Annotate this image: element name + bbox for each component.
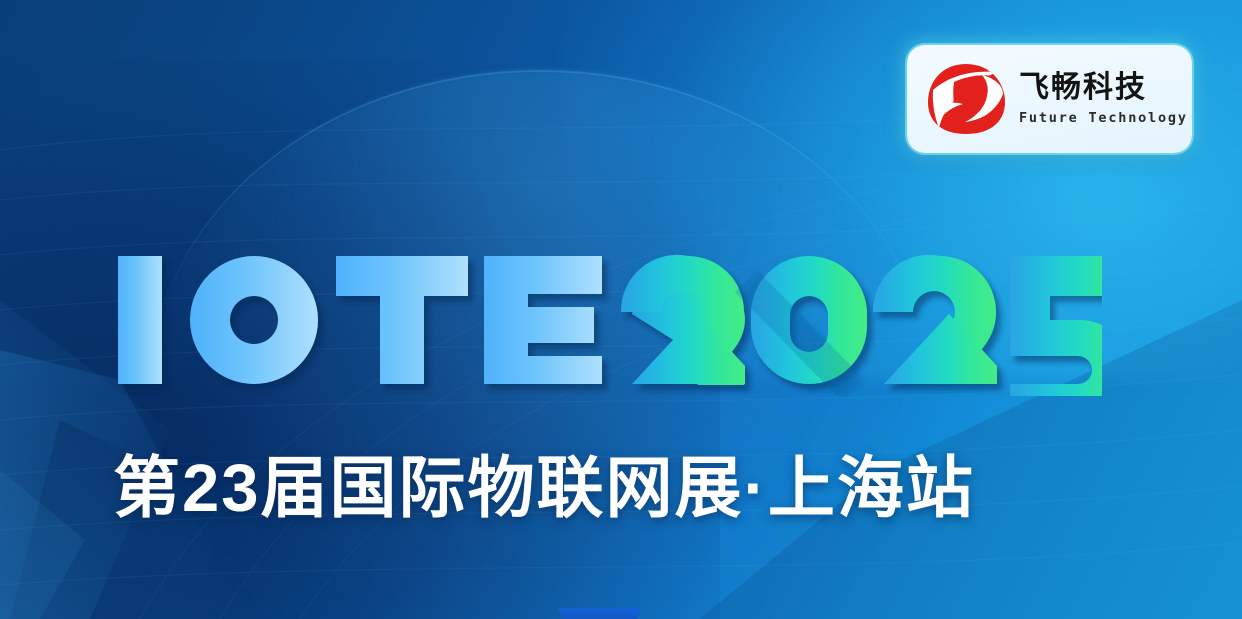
company-name-en: Future Technology: [1019, 110, 1188, 126]
feichang-swirl-icon: [923, 60, 1009, 138]
bottom-center-tab: [558, 608, 642, 619]
headline-year-2025: [621, 255, 1102, 396]
iote-2025-promo-banner: 第23届国际物联网展·上海站: [0, 0, 1242, 619]
logo-text-block: 飞畅科技 Future Technology: [1019, 72, 1188, 126]
headline-iote: [118, 256, 602, 384]
page-subtitle: 第23届国际物联网展·上海站: [113, 452, 975, 526]
company-name-cn: 飞畅科技: [1019, 72, 1188, 104]
company-logo-badge[interactable]: 飞畅科技 Future Technology: [907, 45, 1192, 153]
headline-group: [112, 236, 1102, 396]
